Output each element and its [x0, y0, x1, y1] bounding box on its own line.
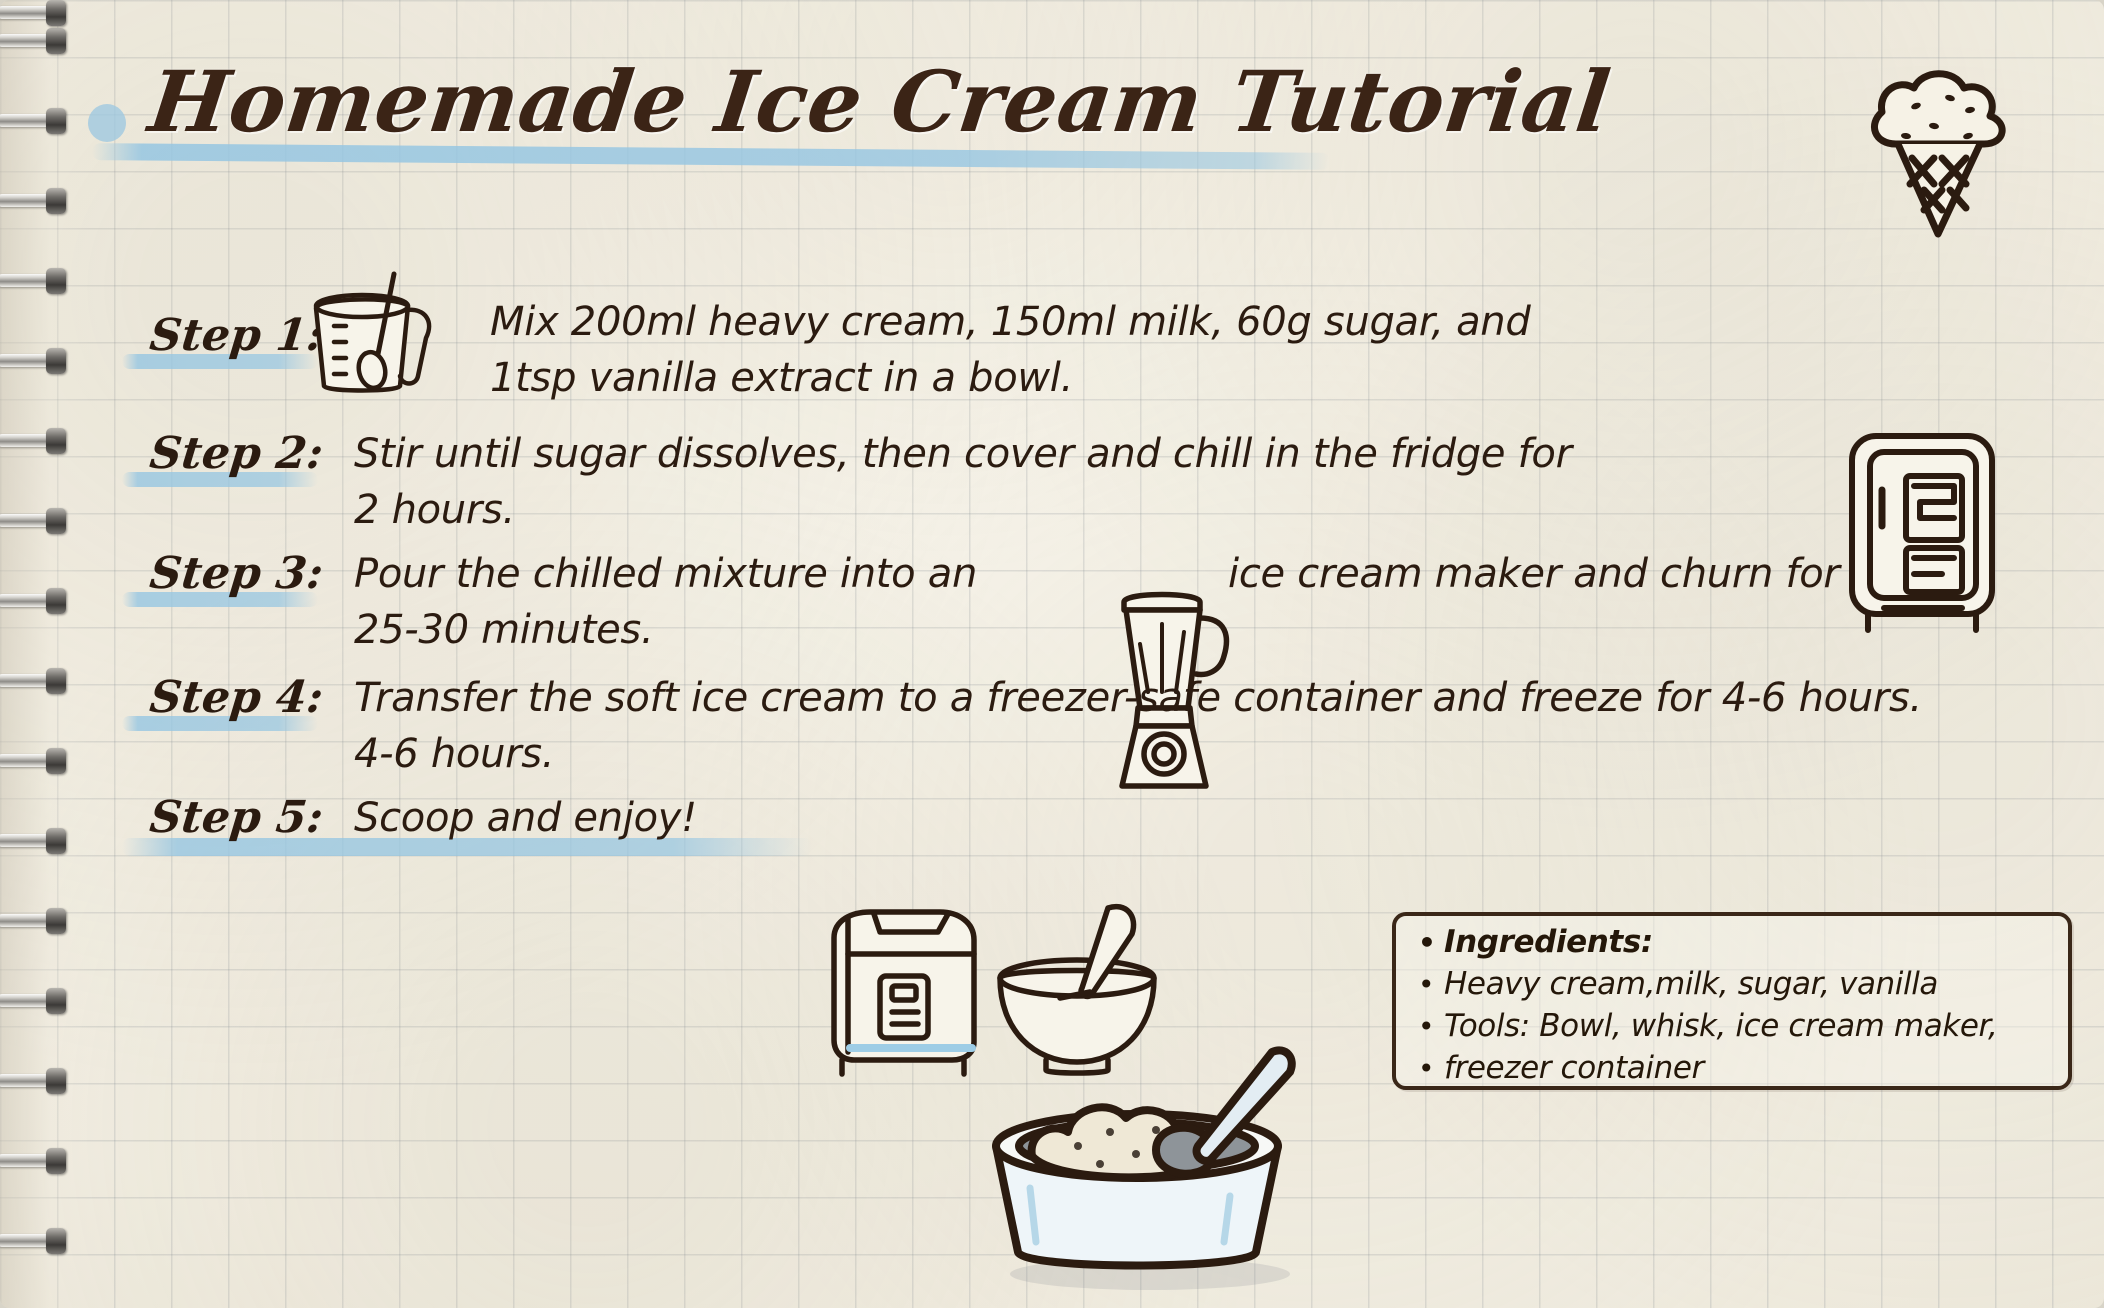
binding-ring	[0, 908, 70, 934]
binding-ring	[0, 1068, 70, 1094]
page-title: Homemade Ice Cream Tutorial	[144, 52, 1616, 151]
step-3-text-after: ice cream maker and churn for	[1228, 546, 1840, 602]
binding-ring	[0, 108, 70, 134]
binding-ring	[0, 828, 70, 854]
step-1-text: Mix 200ml heavy cream, 150ml milk, 60g s…	[490, 294, 1530, 406]
binding-ring	[0, 588, 70, 614]
binding-ring	[0, 188, 70, 214]
step-4-label: Step 4:	[147, 672, 325, 723]
ingredients-line: •Tools: Bowl, whisk, ice cream maker,	[1418, 1008, 1998, 1044]
ingredients-line-text: Tools: Bowl, whisk, ice cream maker,	[1444, 1008, 1998, 1044]
ice-cream-cone-icon	[1838, 48, 2038, 238]
step-3-text-second: 25-30 minutes.	[354, 602, 653, 658]
title-dot-marker	[88, 104, 126, 142]
ingredients-line-text: Ingredients:	[1444, 924, 1653, 960]
ingredients-line-text: Heavy cream,milk, sugar, vanilla	[1444, 966, 1938, 1002]
step-3-label: Step 3:	[147, 548, 325, 599]
binding-ring	[0, 268, 70, 294]
page-title-row: Homemade Ice Cream Tutorial	[150, 52, 1850, 182]
spiral-binding	[0, 0, 92, 1308]
bullet-icon: •	[1418, 968, 1444, 1001]
step-2-label: Step 2:	[147, 428, 325, 479]
step-5-text: Scoop and enjoy!	[354, 790, 697, 846]
ingredients-line-text: freezer container	[1444, 1050, 1704, 1086]
binding-ring	[0, 0, 70, 26]
step-3-text-before: Pour the chilled mixture into an	[354, 546, 977, 602]
step-5-label: Step 5:	[147, 792, 325, 843]
bullet-icon: •	[1418, 1052, 1444, 1085]
step-4-text: Transfer the soft ice cream to a freezer…	[354, 670, 1922, 782]
ingredients-line: •Heavy cream,milk, sugar, vanilla	[1418, 966, 1938, 1002]
step-2-text: Stir until sugar dissolves, then cover a…	[354, 426, 1572, 538]
notebook-page: Homemade Ice Cream Tutorial Step 1:	[0, 0, 2104, 1308]
bullet-icon: •	[1418, 1010, 1444, 1043]
binding-ring	[0, 28, 70, 54]
binding-ring	[0, 988, 70, 1014]
binding-ring	[0, 1148, 70, 1174]
bullet-icon: •	[1418, 926, 1444, 959]
binding-ring	[0, 508, 70, 534]
ingredients-line: •freezer container	[1418, 1050, 1704, 1086]
measuring-cup-icon	[298, 268, 468, 396]
ingredients-box: •Ingredients: •Heavy cream,milk, sugar, …	[1392, 912, 2072, 1090]
binding-ring	[0, 668, 70, 694]
binding-ring	[0, 348, 70, 374]
refrigerator-icon	[1830, 428, 2012, 640]
binding-ring	[0, 748, 70, 774]
ice-cream-tub-icon	[960, 1046, 1320, 1296]
binding-ring	[0, 428, 70, 454]
binding-ring	[0, 1228, 70, 1254]
ingredients-line: •Ingredients:	[1418, 924, 1653, 960]
